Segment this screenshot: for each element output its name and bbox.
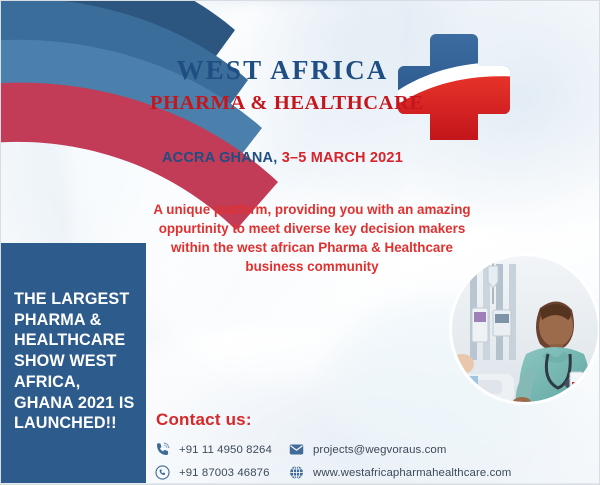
nurse-with-patient-photo xyxy=(452,256,598,402)
contact-email[interactable]: projects@wegvoraus.com xyxy=(288,441,446,458)
contact-email-value: projects@wegvoraus.com xyxy=(313,444,446,456)
brand-name-secondary: PHARMA & HEALTHCARE xyxy=(150,90,415,117)
contact-website[interactable]: www.westafricapharmahealthcare.com xyxy=(288,464,511,481)
phone-icon xyxy=(154,441,171,458)
whatsapp-icon xyxy=(154,464,171,481)
contact-phone[interactable]: +91 11 4950 8264 xyxy=(154,441,288,458)
contact-whatsapp-value: +91 87003 46876 xyxy=(179,467,270,479)
photo-illustration xyxy=(452,256,598,402)
contact-phone-value: +91 11 4950 8264 xyxy=(179,444,272,456)
globe-icon xyxy=(288,464,305,481)
contact-row-primary: +91 11 4950 8264 projects@wegvoraus.com xyxy=(154,438,594,461)
contact-website-value: www.westafricapharmahealthcare.com xyxy=(313,467,511,479)
envelope-icon xyxy=(288,441,305,458)
contact-heading: Contact us: xyxy=(156,410,252,430)
pitch-paragraph: A unique platform, providing you with an… xyxy=(152,200,472,276)
event-dates: 3–5 MARCH 2021 xyxy=(282,150,403,166)
event-location-date: ACCRA GHANA, 3–5 MARCH 2021 xyxy=(150,150,415,166)
flyer-canvas: WEST AFRICA PHARMA & HEALTHCARE ACCRA GH… xyxy=(0,0,600,485)
announcement-panel-text: THE LARGEST PHARMA & HEALTHCARE SHOW WES… xyxy=(14,289,142,434)
contact-row-secondary: +91 87003 46876 www.westafricapharmaheal… xyxy=(154,461,594,484)
event-city: ACCRA GHANA, xyxy=(162,150,282,166)
contact-details: +91 11 4950 8264 projects@wegvoraus.com … xyxy=(154,438,594,484)
brand-name-primary: WEST AFRICA xyxy=(150,56,415,86)
contact-whatsapp[interactable]: +91 87003 46876 xyxy=(154,464,288,481)
brand-wordmark: WEST AFRICA PHARMA & HEALTHCARE xyxy=(150,56,415,116)
